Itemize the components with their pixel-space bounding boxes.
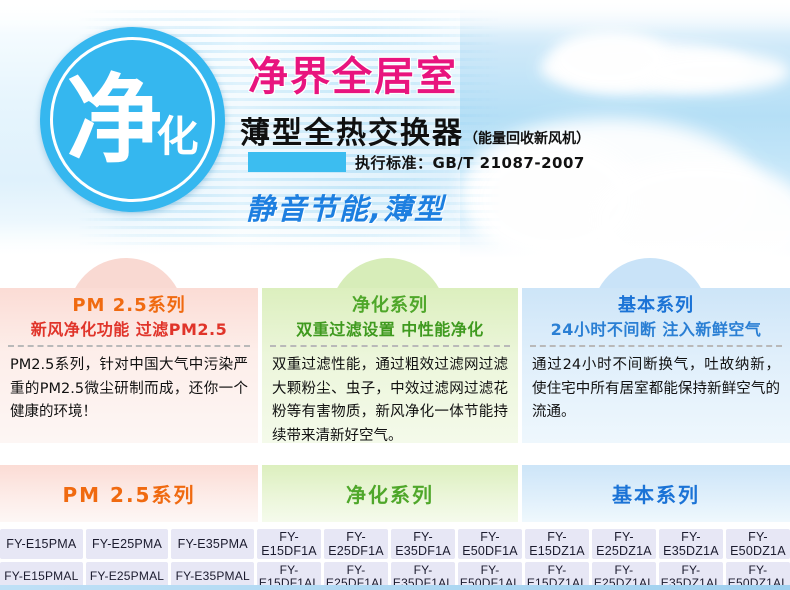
hero-title: 净界全居室 (248, 44, 458, 102)
bottom-accent-line (0, 585, 790, 590)
model-group-header-jiben: 基本系列 (522, 465, 790, 522)
model-cell: FY-E25DZ1A (592, 529, 656, 559)
model-group-label: 基本系列 (522, 465, 790, 508)
hero-section: 净 化 净界全居室 薄型全热交换器（能量回收新风机） 执行标准：GB/T 210… (0, 0, 790, 258)
model-cell: FY-E35DZ1A (659, 529, 723, 559)
feature-panel-header: PM 2.5系列 新风净化功能 过滤PM2.5 (0, 288, 258, 341)
feature-title: PM 2.5系列 (0, 294, 258, 318)
feature-panels-section: PM 2.5系列 新风净化功能 过滤PM2.5 PM2.5系列，针对中国大气中污… (0, 258, 790, 456)
model-group-label: PM 2.5系列 (0, 465, 258, 508)
model-group-header-jinghua: 净化系列 (262, 465, 518, 522)
feature-tagline: 新风净化功能 过滤PM2.5 (0, 318, 258, 341)
feature-body: PM2.5系列，针对中国大气中污染严重的PM2.5微尘研制而成，还你一个健康的环… (0, 347, 258, 424)
badge-sub-character: 化 (156, 116, 198, 158)
cloud-shape (640, 52, 790, 92)
model-table-row: FY-E15PMAFY-E25PMAFY-E35PMAFY-E15DF1AFY-… (0, 529, 790, 559)
feature-tagline: 双重过滤设置 中性能净化 (262, 318, 518, 341)
model-cell: FY-E15PMA (0, 529, 83, 559)
hero-subtitle-main: 薄型全热交换器 (240, 116, 464, 151)
feature-title: 基本系列 (522, 294, 790, 318)
badge-text: 净 化 (40, 27, 225, 212)
feature-panel-header: 基本系列 24小时不间断 注入新鲜空气 (522, 288, 790, 341)
model-cell: FY-E35DF1A (391, 529, 455, 559)
feature-panel-jiben: 基本系列 24小时不间断 注入新鲜空气 通过24小时不间断换气，吐故纳新，使住宅… (522, 288, 790, 443)
hero-subtitle-note: （能量回收新风机） (464, 131, 590, 147)
model-cell: FY-E25DF1A (324, 529, 388, 559)
model-group-label: 净化系列 (262, 465, 518, 508)
model-cell: FY-E35PMA (171, 529, 254, 559)
model-cell: FY-E15DF1A (257, 529, 321, 559)
product-banner-page: 净 化 净界全居室 薄型全热交换器（能量回收新风机） 执行标准：GB/T 210… (0, 0, 790, 590)
model-group-header-pm25: PM 2.5系列 (0, 465, 258, 522)
badge-main-character: 净 (66, 72, 160, 168)
model-cell: FY-E15DZ1A (525, 529, 589, 559)
feature-panel-header: 净化系列 双重过滤设置 中性能净化 (262, 288, 518, 341)
hero-subtitle: 薄型全热交换器（能量回收新风机） (240, 108, 590, 152)
feature-panel-pm25: PM 2.5系列 新风净化功能 过滤PM2.5 PM2.5系列，针对中国大气中污… (0, 288, 258, 443)
feature-title: 净化系列 (262, 294, 518, 318)
hero-standard-text: 执行标准：GB/T 21087-2007 (355, 152, 585, 173)
purification-badge-logo: 净 化 (40, 27, 225, 212)
model-cell: FY-E25PMA (86, 529, 169, 559)
model-cell: FY-E50DZ1A (726, 529, 790, 559)
model-table-section: PM 2.5系列 净化系列 基本系列 FY-E15PMAFY-E25PMAFY-… (0, 456, 790, 590)
hero-slogan: 静音节能,薄型 (246, 186, 445, 228)
feature-tagline: 24小时不间断 注入新鲜空气 (522, 318, 790, 341)
feature-body: 双重过滤性能，通过粗效过滤网过滤大颗粉尘、虫子，中效过滤网过滤花粉等有害物质，新… (262, 347, 518, 443)
feature-panel-jinghua: 净化系列 双重过滤设置 中性能净化 双重过滤性能，通过粗效过滤网过滤大颗粉尘、虫… (262, 288, 518, 443)
standard-accent-bar (248, 152, 346, 172)
feature-body: 通过24小时不间断换气，吐故纳新，使住宅中所有居室都能保持新鲜空气的流通。 (522, 347, 790, 424)
model-table-header-row: PM 2.5系列 净化系列 基本系列 (0, 465, 790, 522)
model-cell: FY-E50DF1A (458, 529, 522, 559)
